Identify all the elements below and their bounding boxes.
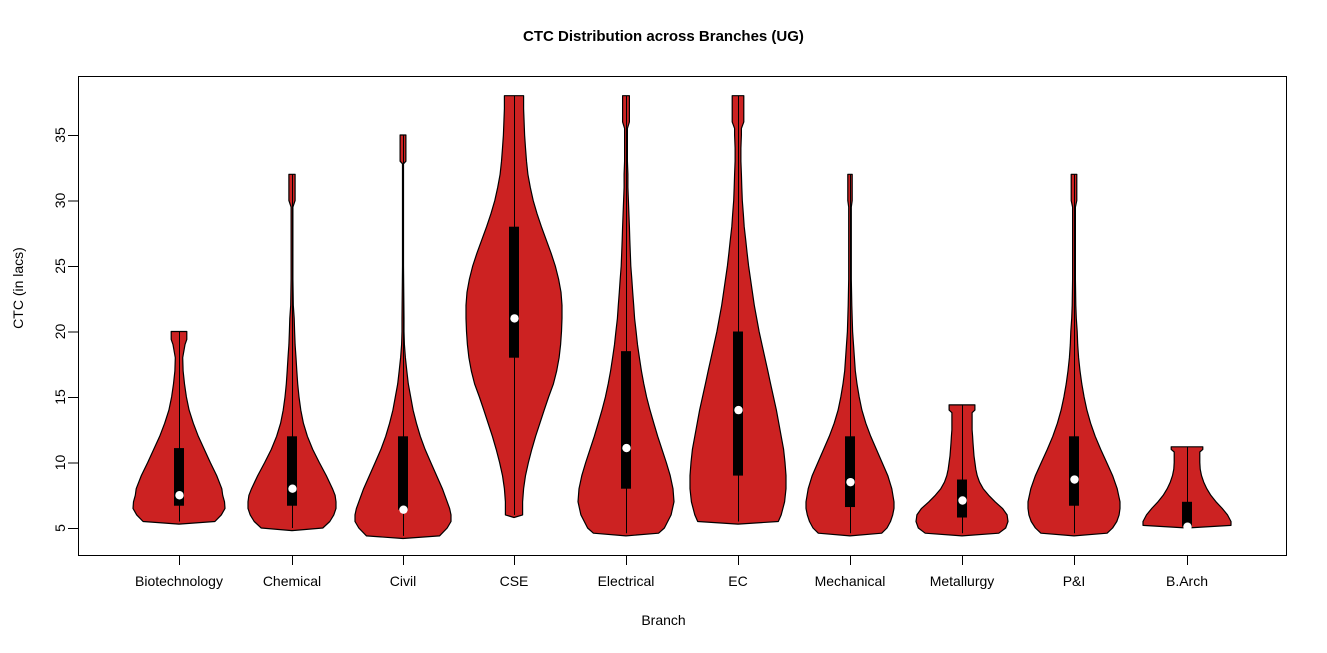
- x-tick-label-chemical: Chemical: [263, 573, 321, 589]
- x-tick-label-metallurgy: Metallurgy: [930, 573, 995, 589]
- violin-ec[interactable]: [690, 96, 786, 524]
- y-tick-label: 10: [52, 455, 68, 471]
- x-tick-label-ec: EC: [728, 573, 747, 589]
- iqr-box: [398, 436, 408, 509]
- x-tick-label-civil: Civil: [390, 573, 416, 589]
- violin-metallurgy[interactable]: [916, 405, 1008, 536]
- median-marker: [1183, 522, 1191, 530]
- violin-p-i[interactable]: [1028, 174, 1120, 536]
- median-marker: [958, 496, 966, 504]
- median-marker: [734, 406, 742, 414]
- violin-cse[interactable]: [466, 96, 562, 518]
- iqr-box: [287, 436, 297, 505]
- x-tick-label-cse: CSE: [500, 573, 529, 589]
- y-tick-label: 5: [52, 524, 68, 532]
- x-tick-label-biotechnology: Biotechnology: [135, 573, 223, 589]
- y-tick-label: 25: [52, 258, 68, 274]
- x-axis: BiotechnologyChemicalCivilCSEElectricalE…: [135, 555, 1208, 589]
- x-tick-label-electrical: Electrical: [598, 573, 655, 589]
- x-tick-label-p-i: P&I: [1063, 573, 1086, 589]
- violin-b-arch[interactable]: [1143, 447, 1231, 531]
- median-marker: [399, 505, 407, 513]
- iqr-box: [845, 436, 855, 507]
- violin-mechanical[interactable]: [806, 174, 894, 536]
- iqr-box: [621, 351, 631, 489]
- violin-chemical[interactable]: [248, 174, 336, 530]
- median-marker: [175, 491, 183, 499]
- iqr-box: [733, 332, 743, 476]
- violin-civil[interactable]: [355, 135, 451, 539]
- iqr-box: [509, 227, 519, 358]
- median-marker: [288, 485, 296, 493]
- y-tick-label: 30: [52, 193, 68, 209]
- violin-series-group: [133, 96, 1231, 539]
- y-tick-label: 15: [52, 389, 68, 405]
- y-axis: 5101520253035: [52, 127, 78, 532]
- plot-area: 5101520253035 BiotechnologyChemicalCivil…: [0, 0, 1327, 653]
- median-marker: [622, 444, 630, 452]
- x-tick-label-mechanical: Mechanical: [815, 573, 886, 589]
- y-tick-label: 20: [52, 324, 68, 340]
- median-marker: [1070, 475, 1078, 483]
- median-marker: [510, 314, 518, 322]
- violin-biotechnology[interactable]: [133, 332, 225, 525]
- y-tick-label: 35: [52, 127, 68, 143]
- iqr-box: [1069, 436, 1079, 505]
- violin-electrical[interactable]: [578, 96, 674, 536]
- violin-chart: CTC Distribution across Branches (UG) CT…: [0, 0, 1327, 653]
- median-marker: [846, 478, 854, 486]
- x-tick-label-b-arch: B.Arch: [1166, 573, 1208, 589]
